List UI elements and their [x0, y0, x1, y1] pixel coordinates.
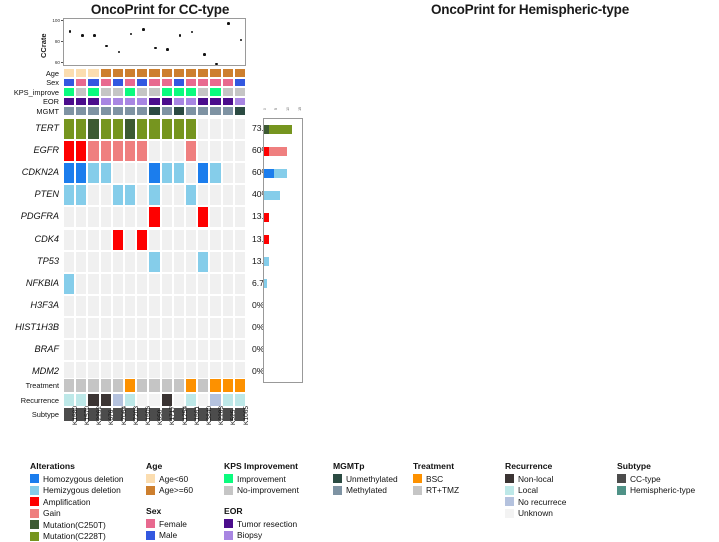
oncoprint-cell[interactable] [161, 273, 173, 295]
oncoprint-cell[interactable] [173, 118, 185, 140]
annotation-cell [148, 78, 160, 88]
oncoprint-cell[interactable] [234, 162, 246, 184]
oncoprint-cell[interactable] [173, 317, 185, 339]
oncoprint-cell[interactable] [112, 118, 124, 140]
annotation-track-age [63, 68, 246, 78]
oncoprint-cell[interactable] [185, 118, 197, 140]
oncoprint-cell[interactable] [197, 295, 209, 317]
oncoprint-cell[interactable] [161, 140, 173, 162]
legend-swatch [146, 474, 155, 483]
summary-bar-segment [264, 235, 269, 244]
oncoprint-cell[interactable] [100, 339, 112, 361]
oncoprint-cell[interactable] [209, 118, 221, 140]
oncoprint-cell[interactable] [209, 339, 221, 361]
ccrate-axis-tick: 60 [48, 60, 60, 65]
ccrate-tick-mark [61, 41, 63, 42]
oncoprint-cell[interactable] [87, 162, 99, 184]
oncoprint-cell[interactable] [124, 317, 136, 339]
oncoprint-cell[interactable] [222, 251, 234, 273]
gene-label-tert: TERT [1, 123, 59, 133]
sample-label: K1606 [145, 406, 152, 425]
oncoprint-cell[interactable] [185, 140, 197, 162]
oncoprint-cell[interactable] [87, 295, 99, 317]
legend-item: No recurrece [505, 496, 566, 508]
oncoprint-cell[interactable] [136, 251, 148, 273]
panel-title: OncoPrint for CC-type [35, 2, 285, 17]
legend-title: Subtype [617, 461, 695, 471]
oncoprint-cell[interactable] [100, 229, 112, 251]
annotation-cell [148, 87, 160, 97]
annotation-cell [161, 97, 173, 107]
oncoprint-cell[interactable] [197, 184, 209, 206]
oncoprint-cell[interactable] [173, 273, 185, 295]
annotation-label-mgmt: MGMT [710, 107, 719, 116]
oncoprint-cell[interactable] [63, 251, 75, 273]
annotation-cell [136, 68, 148, 78]
oncoprint-cell[interactable] [185, 184, 197, 206]
oncoprint-cell[interactable] [222, 162, 234, 184]
oncoprint-cell[interactable] [197, 206, 209, 228]
annotation-cell [173, 97, 185, 107]
oncoprint-cell[interactable] [185, 317, 197, 339]
gene-row [63, 317, 246, 339]
oncoprint-cell[interactable] [148, 229, 160, 251]
annotation-cell [124, 97, 136, 107]
summary-bar [264, 191, 280, 200]
oncoprint-cell[interactable] [124, 162, 136, 184]
oncoprint-cell[interactable] [75, 162, 87, 184]
sample-label: K650 [157, 409, 164, 424]
oncoprint-cell[interactable] [136, 339, 148, 361]
summary-bar-segment [274, 169, 287, 178]
oncoprint-cell[interactable] [222, 273, 234, 295]
oncoprint-cell[interactable] [112, 229, 124, 251]
legend-item: No-improvement [224, 485, 299, 497]
legend-label: Non-local [518, 474, 553, 484]
annotation-cell [148, 378, 160, 393]
oncoprint-cell[interactable] [63, 295, 75, 317]
oncoprint-cell[interactable] [209, 140, 221, 162]
summary-bar-segment [269, 125, 292, 134]
legend-item: Female [146, 518, 187, 530]
annotation-cell [124, 78, 136, 88]
oncoprint-cell[interactable] [63, 339, 75, 361]
legend-kps-improvement: KPS ImprovementImprovementNo-improvement [224, 461, 299, 496]
ccrate-plot [63, 18, 246, 66]
annotation-cell [63, 87, 75, 97]
oncoprint-cell[interactable] [161, 339, 173, 361]
oncoprint-cell[interactable] [173, 229, 185, 251]
oncoprint-cell[interactable] [112, 140, 124, 162]
oncoprint-cell[interactable] [124, 206, 136, 228]
summary-bar [264, 213, 269, 222]
oncoprint-cell[interactable] [173, 295, 185, 317]
annotation-track-mgmt [63, 106, 246, 116]
oncoprint-cell[interactable] [148, 317, 160, 339]
oncoprint-cell[interactable] [112, 162, 124, 184]
oncoprint-cell[interactable] [75, 339, 87, 361]
sample-label: K2262 [96, 406, 103, 425]
annotation-cell [197, 97, 209, 107]
oncoprint-cell[interactable] [148, 162, 160, 184]
legend-label: RT+TMZ [426, 485, 459, 495]
legend-age: AgeAge<60Age>=60 [146, 461, 193, 496]
legend-label: Age>=60 [159, 485, 193, 495]
gene-row [63, 184, 246, 206]
oncoprint-cell[interactable] [197, 118, 209, 140]
legend-item: Methylated [333, 485, 398, 497]
oncoprint-cell[interactable] [100, 118, 112, 140]
oncoprint-cell[interactable] [87, 273, 99, 295]
sample-label: K525 [230, 409, 237, 424]
oncoprint-cell[interactable] [185, 273, 197, 295]
oncoprint-cell[interactable] [75, 140, 87, 162]
oncoprint-cell[interactable] [87, 118, 99, 140]
scatter-point [93, 34, 96, 37]
oncoprint-cell[interactable] [197, 339, 209, 361]
oncoprint-cell[interactable] [75, 251, 87, 273]
gene-label-h3f3a: H3F3A [710, 300, 719, 310]
oncoprint-cell[interactable] [161, 162, 173, 184]
annotation-cell [100, 378, 112, 393]
oncoprint-cell[interactable] [161, 229, 173, 251]
oncoprint-cell[interactable] [209, 251, 221, 273]
oncoprint-cell[interactable] [112, 317, 124, 339]
legend-label: Methylated [346, 485, 387, 495]
oncoprint-cell[interactable] [234, 317, 246, 339]
annotation-cell [234, 87, 246, 97]
oncoprint-cell[interactable] [87, 339, 99, 361]
oncoprint-cell[interactable] [173, 339, 185, 361]
oncoprint-cell[interactable] [100, 206, 112, 228]
oncoprint-cell[interactable] [63, 140, 75, 162]
oncoprint-cell[interactable] [87, 140, 99, 162]
annotation-cell [234, 68, 246, 78]
oncoprint-cell[interactable] [100, 273, 112, 295]
oncoprint-cell[interactable] [234, 118, 246, 140]
oncoprint-cell[interactable] [161, 251, 173, 273]
oncoprint-cell[interactable] [87, 184, 99, 206]
oncoprint-cell[interactable] [173, 206, 185, 228]
oncoprint-cell[interactable] [87, 206, 99, 228]
oncoprint-cell[interactable] [173, 251, 185, 273]
annotation-cell [100, 68, 112, 78]
annotation-cell [209, 97, 221, 107]
legend-label: Female [159, 519, 187, 529]
legend-item: Mutation(C250T) [30, 519, 124, 531]
oncoprint-cell[interactable] [75, 118, 87, 140]
oncoprint-cell[interactable] [197, 251, 209, 273]
oncoprint-cell[interactable] [136, 162, 148, 184]
oncoprint-cell[interactable] [197, 273, 209, 295]
oncoprint-cell[interactable] [112, 273, 124, 295]
oncoprint-cell[interactable] [124, 118, 136, 140]
oncoprint-cell[interactable] [173, 140, 185, 162]
panel-hemi: OncoPrint for Hemispheric-typeCCrate5040… [355, 0, 719, 455]
oncoprint-cell[interactable] [100, 162, 112, 184]
oncoprint-figure: OncoPrint for CC-typeCCrate1008060AgeSex… [0, 0, 719, 533]
annotation-cell [87, 97, 99, 107]
oncoprint-cell[interactable] [148, 118, 160, 140]
gene-label-pdgfra: PDGFRA [1, 211, 59, 221]
oncoprint-cell[interactable] [124, 140, 136, 162]
oncoprint-cell[interactable] [234, 295, 246, 317]
oncoprint-cell[interactable] [124, 295, 136, 317]
gene-row [63, 251, 246, 273]
oncoprint-cell[interactable] [87, 251, 99, 273]
legend-swatch [146, 519, 155, 528]
oncoprint-cell[interactable] [124, 273, 136, 295]
scatter-point [191, 31, 194, 34]
legend-swatch [30, 474, 39, 483]
oncoprint-cell[interactable] [173, 184, 185, 206]
oncoprint-cell[interactable] [161, 295, 173, 317]
legend-swatch [617, 474, 626, 483]
oncoprint-cell[interactable] [185, 206, 197, 228]
legend-label: Local [518, 485, 538, 495]
oncoprint-cell[interactable] [136, 295, 148, 317]
gene-label-mdm2: MDM2 [1, 366, 59, 376]
legend-item: Non-local [505, 473, 566, 485]
oncoprint-cell[interactable] [100, 140, 112, 162]
oncoprint-cell[interactable] [136, 184, 148, 206]
summary-bar-segment [264, 213, 269, 222]
oncoprint-cell[interactable] [112, 206, 124, 228]
annotation-cell [112, 106, 124, 116]
oncoprint-cell[interactable] [148, 295, 160, 317]
oncoprint-cell[interactable] [185, 295, 197, 317]
legend-title: EOR [224, 506, 297, 516]
oncoprint-cell[interactable] [112, 251, 124, 273]
oncoprint-cell[interactable] [197, 317, 209, 339]
oncoprint-cell[interactable] [197, 162, 209, 184]
oncoprint-cell[interactable] [124, 339, 136, 361]
gene-label-tert: TERT [710, 123, 719, 133]
annotation-track-kps_improve [63, 87, 246, 97]
annotation-cell [124, 68, 136, 78]
annotation-cell [100, 78, 112, 88]
oncoprint-cell[interactable] [148, 273, 160, 295]
oncoprint-cell[interactable] [234, 339, 246, 361]
legend-recurrence: RecurrenceNon-localLocalNo recurreceUnkn… [505, 461, 566, 519]
oncoprint-cell[interactable] [197, 229, 209, 251]
oncoprint-cell[interactable] [209, 229, 221, 251]
annotation-cell [75, 78, 87, 88]
oncoprint-cell[interactable] [209, 317, 221, 339]
oncoprint-cell[interactable] [234, 140, 246, 162]
oncoprint-cell[interactable] [222, 317, 234, 339]
scatter-point [154, 47, 157, 50]
oncoprint-cell[interactable] [124, 251, 136, 273]
oncoprint-cell[interactable] [222, 339, 234, 361]
legend-swatch [30, 509, 39, 518]
gene-label-nfkbia: NFKBIA [1, 278, 59, 288]
annotation-cell [87, 78, 99, 88]
oncoprint-cell[interactable] [124, 184, 136, 206]
oncoprint-cell[interactable] [136, 229, 148, 251]
annotation-label-kps_improve: KPS_improve [710, 88, 719, 97]
oncoprint-cell[interactable] [209, 273, 221, 295]
oncoprint-cell[interactable] [75, 229, 87, 251]
oncoprint-cell[interactable] [234, 251, 246, 273]
annotation-cell [185, 378, 197, 393]
oncoprint-cell[interactable] [161, 206, 173, 228]
legend-label: Homozygous deletion [43, 474, 124, 484]
oncoprint-cell[interactable] [112, 339, 124, 361]
scatter-point [105, 45, 108, 48]
oncoprint-cell[interactable] [197, 140, 209, 162]
oncoprint-cell[interactable] [222, 140, 234, 162]
oncoprint-cell[interactable] [63, 229, 75, 251]
legend-label: Mutation(C250T) [43, 520, 106, 530]
annotation-cell [136, 97, 148, 107]
oncoprint-cell[interactable] [161, 184, 173, 206]
oncoprint-cell[interactable] [112, 184, 124, 206]
sample-label: K676 [108, 409, 115, 424]
oncoprint-cell[interactable] [209, 162, 221, 184]
oncoprint-cell[interactable] [173, 162, 185, 184]
oncoprint-cell[interactable] [136, 317, 148, 339]
oncoprint-cell[interactable] [234, 273, 246, 295]
legend-swatch [505, 474, 514, 483]
annotation-cell [209, 378, 221, 393]
annotation-cell [222, 378, 234, 393]
gene-label-egfr: EGFR [1, 145, 59, 155]
oncoprint-cell[interactable] [63, 184, 75, 206]
oncoprint-cell[interactable] [63, 206, 75, 228]
legend-label: Biopsy [237, 530, 262, 540]
annotation-cell [161, 87, 173, 97]
legend-item: Unmethylated [333, 473, 398, 485]
oncoprint-cell[interactable] [148, 251, 160, 273]
oncoprint-cell[interactable] [234, 206, 246, 228]
sample-label: K1254 [182, 406, 189, 425]
annotation-cell [63, 378, 75, 393]
legend-swatch [146, 486, 155, 495]
oncoprint-cell[interactable] [185, 251, 197, 273]
oncoprint-cell[interactable] [124, 229, 136, 251]
oncoprint-cell[interactable] [148, 339, 160, 361]
legend-swatch [413, 486, 422, 495]
oncoprint-cell[interactable] [75, 295, 87, 317]
legend-swatch [146, 531, 155, 540]
legend-title: MGMTp [333, 461, 398, 471]
oncoprint-cell[interactable] [185, 339, 197, 361]
oncoprint-cell[interactable] [136, 206, 148, 228]
annotation-cell [87, 68, 99, 78]
annotation-cell [63, 68, 75, 78]
annotation-cell [209, 68, 221, 78]
oncoprint-cell[interactable] [148, 184, 160, 206]
oncoprint-cell[interactable] [112, 295, 124, 317]
oncoprint-cell[interactable] [148, 140, 160, 162]
annotation-cell [148, 106, 160, 116]
oncoprint-cell[interactable] [100, 251, 112, 273]
annotation-cell [222, 97, 234, 107]
oncoprint-cell[interactable] [136, 118, 148, 140]
oncoprint-cell[interactable] [63, 162, 75, 184]
gene-label-tp53: TP53 [1, 256, 59, 266]
oncoprint-cell[interactable] [75, 273, 87, 295]
oncoprint-cell[interactable] [161, 317, 173, 339]
gene-label-cdkn2a: CDKN2A [1, 167, 59, 177]
annotation-cell [100, 106, 112, 116]
oncoprint-cell[interactable] [222, 229, 234, 251]
oncoprint-cell[interactable] [136, 140, 148, 162]
oncoprint-cell[interactable] [185, 162, 197, 184]
ccrate-tick-mark [61, 20, 63, 21]
bottom-label-recurrence: Recurrence [710, 396, 719, 405]
summary-bar [264, 169, 287, 178]
oncoprint-cell[interactable] [234, 229, 246, 251]
summary-axis-tick: 10 [285, 107, 289, 111]
annotation-cell [185, 87, 197, 97]
scatter-point [179, 34, 182, 37]
ccrate-axis-label: CCrate [39, 33, 48, 58]
oncoprint-cell[interactable] [161, 118, 173, 140]
scatter-point [215, 63, 218, 66]
oncoprint-cell[interactable] [148, 206, 160, 228]
scatter-point [69, 30, 72, 33]
oncoprint-cell[interactable] [222, 184, 234, 206]
gene-label-nfkbia: NFKBIA [710, 278, 719, 288]
oncoprint-cell[interactable] [87, 229, 99, 251]
legend-item: Male [146, 530, 187, 542]
gene-row [63, 118, 246, 140]
oncoprint-cell[interactable] [209, 184, 221, 206]
oncoprint-cell[interactable] [100, 184, 112, 206]
legend-item: CC-type [617, 473, 695, 485]
legend-swatch [333, 486, 342, 495]
oncoprint-cell[interactable] [209, 206, 221, 228]
annotation-cell [100, 97, 112, 107]
oncoprint-cell[interactable] [75, 206, 87, 228]
oncoprint-cell[interactable] [100, 317, 112, 339]
oncoprint-cell[interactable] [222, 118, 234, 140]
summary-bar-segment [269, 147, 287, 156]
oncoprint-cell[interactable] [87, 317, 99, 339]
annotation-cell [112, 378, 124, 393]
oncoprint-cell[interactable] [63, 118, 75, 140]
bottom-label-subtype: Subtype [710, 410, 719, 419]
oncoprint-cell[interactable] [100, 295, 112, 317]
oncoprint-cell[interactable] [234, 184, 246, 206]
oncoprint-cell[interactable] [75, 184, 87, 206]
summary-bar-segment [264, 279, 267, 288]
ccrate-tick-mark [61, 62, 63, 63]
annotation-cell [100, 87, 112, 97]
ccrate-axis-tick: 80 [48, 39, 60, 44]
oncoprint-cell[interactable] [63, 273, 75, 295]
oncoprint-cell[interactable] [136, 273, 148, 295]
oncoprint-cell[interactable] [63, 317, 75, 339]
oncoprint-cell[interactable] [75, 317, 87, 339]
oncoprint-cell[interactable] [185, 229, 197, 251]
annotation-cell [197, 78, 209, 88]
legend-treatment: TreatmentBSCRT+TMZ [413, 461, 459, 496]
annotation-cell [136, 78, 148, 88]
gene-label-pten: PTEN [1, 189, 59, 199]
oncoprint-cell[interactable] [222, 295, 234, 317]
annotation-cell [161, 378, 173, 393]
annotation-cell [234, 97, 246, 107]
annotation-label-sex: Sex [1, 78, 59, 87]
oncoprint-cell[interactable] [209, 295, 221, 317]
legend-label: Hemispheric-type [630, 485, 695, 495]
oncoprint-cell[interactable] [222, 206, 234, 228]
legend-label: Age<60 [159, 474, 188, 484]
annotation-label-kps_improve: KPS_improve [1, 88, 59, 97]
